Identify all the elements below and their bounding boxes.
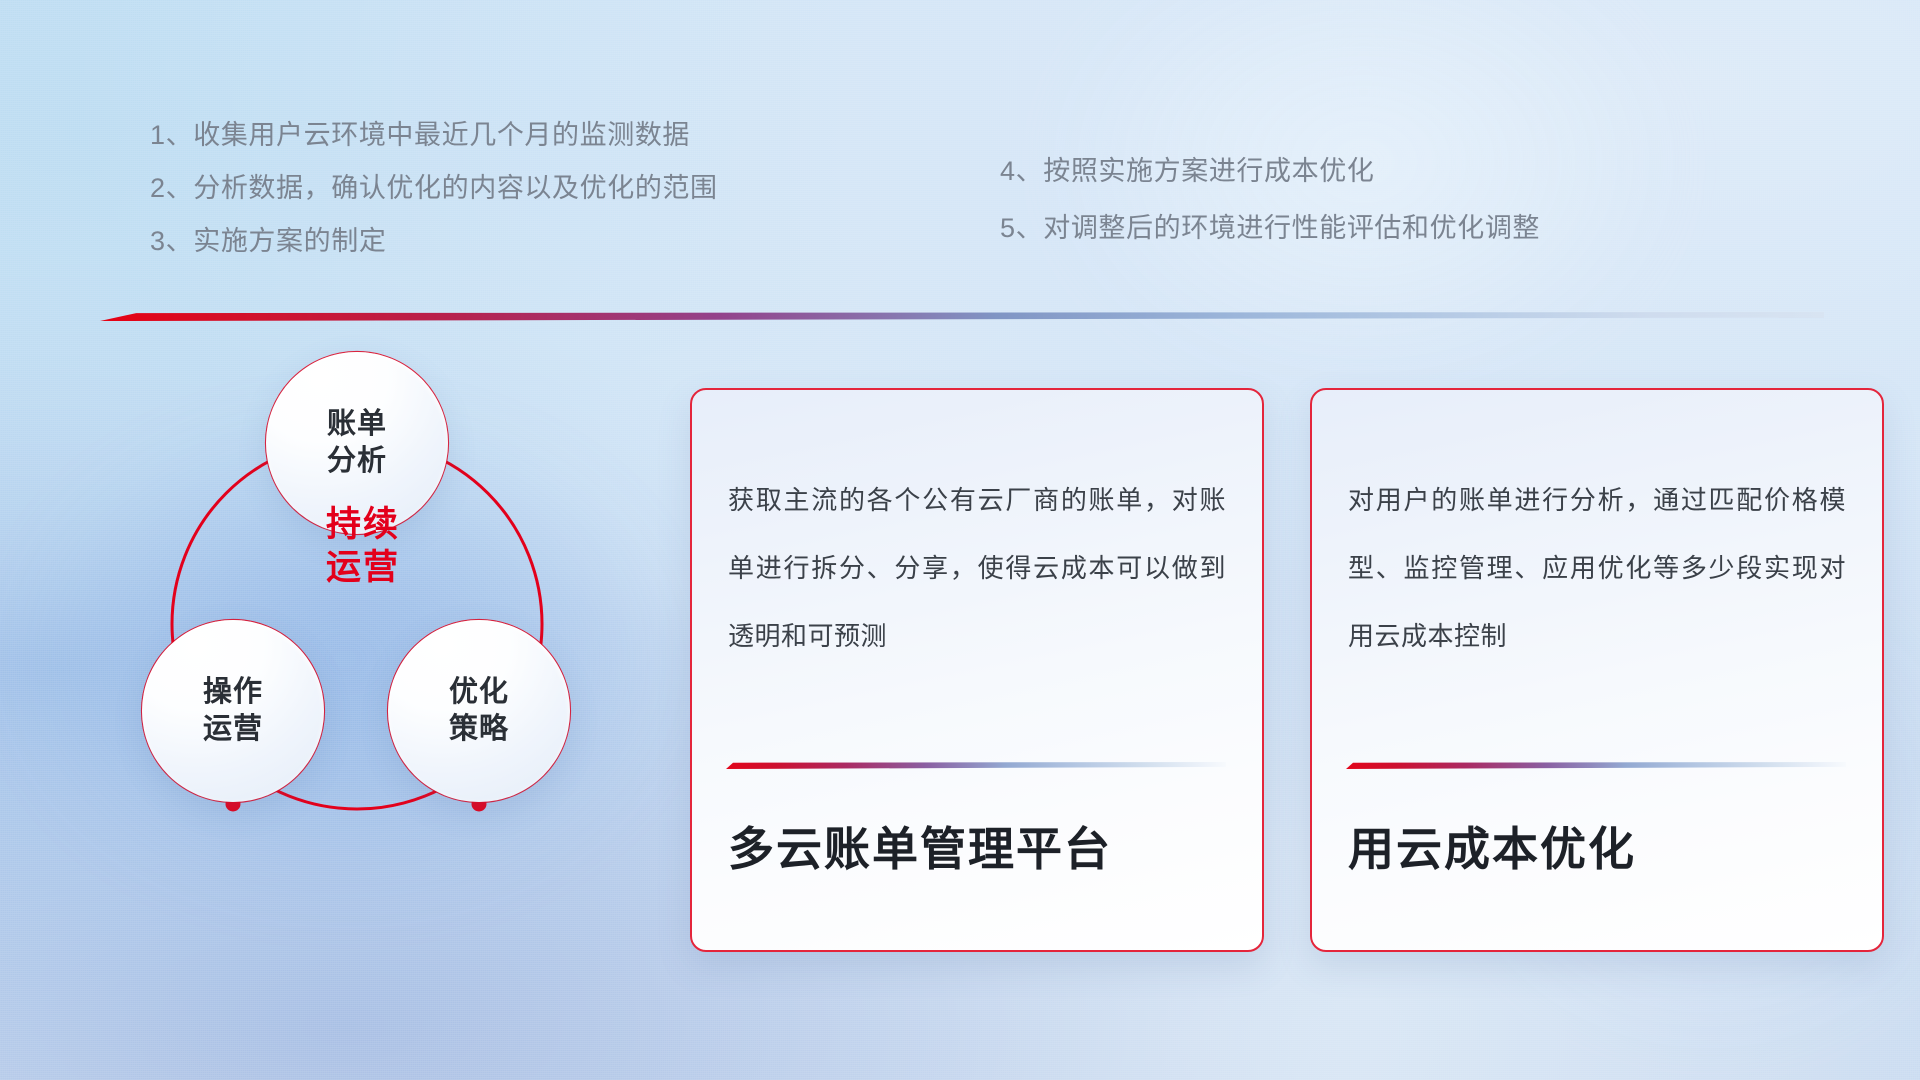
divider-gradient-bar <box>100 312 1824 321</box>
feature-card-body: 对用户的账单进行分析，通过匹配价格模型、监控管理、应用优化等多少段实现对用云成本… <box>1348 466 1846 670</box>
feature-card-body: 获取主流的各个公有云厂商的账单，对账单进行拆分、分享，使得云成本可以做到透明和可… <box>728 466 1226 670</box>
step-item-4: 4、按照实施方案进行成本优化 <box>1000 158 1540 185</box>
steps-column-right: 4、按照实施方案进行成本优化 5、对调整后的环境进行性能评估和优化调整 <box>1000 158 1540 272</box>
step-item-2: 2、分析数据，确认优化的内容以及优化的范围 <box>150 175 718 202</box>
steps-column-left: 1、收集用户云环境中最近几个月的监测数据 2、分析数据，确认优化的内容以及优化的… <box>150 122 718 281</box>
step-item-5: 5、对调整后的环境进行性能评估和优化调整 <box>1000 215 1540 242</box>
venn-bubble-optimization-strategy[interactable]: 优化 策略 <box>388 620 570 802</box>
venn-diagram: 账单 分析 操作 运营 优化 策略 持续 运营 <box>96 352 626 952</box>
feature-card-title: 用云成本优化 <box>1348 822 1852 877</box>
venn-bubble-label-line1: 账单 <box>327 406 387 443</box>
venn-center-label-line2: 运营 <box>288 547 438 590</box>
section-divider <box>100 312 1824 321</box>
step-item-1: 1、收集用户云环境中最近几个月的监测数据 <box>150 122 718 149</box>
feature-card-title: 多云账单管理平台 <box>728 822 1232 877</box>
step-item-3: 3、实施方案的制定 <box>150 228 718 255</box>
venn-bubble-label-line2: 策略 <box>449 711 509 748</box>
venn-center-label-line1: 持续 <box>288 504 438 547</box>
venn-bubble-label: 优化 策略 <box>449 674 509 747</box>
venn-bubble-label-line1: 操作 <box>203 674 263 711</box>
venn-bubble-label: 账单 分析 <box>327 406 387 479</box>
feature-card-divider <box>1346 762 1846 769</box>
feature-card-cloud-cost-optimization[interactable]: 对用户的账单进行分析，通过匹配价格模型、监控管理、应用优化等多少段实现对用云成本… <box>1310 388 1884 952</box>
venn-bubble-label-line1: 优化 <box>449 674 509 711</box>
venn-bubble-label-line2: 分析 <box>327 443 387 480</box>
venn-bubble-label-line2: 运营 <box>203 711 263 748</box>
venn-bubble-operations[interactable]: 操作 运营 <box>142 620 324 802</box>
venn-center-label: 持续 运营 <box>288 504 438 589</box>
venn-bubble-label: 操作 运营 <box>203 674 263 747</box>
feature-card-multi-cloud-billing-platform[interactable]: 获取主流的各个公有云厂商的账单，对账单进行拆分、分享，使得云成本可以做到透明和可… <box>690 388 1264 952</box>
feature-card-divider <box>726 762 1226 769</box>
